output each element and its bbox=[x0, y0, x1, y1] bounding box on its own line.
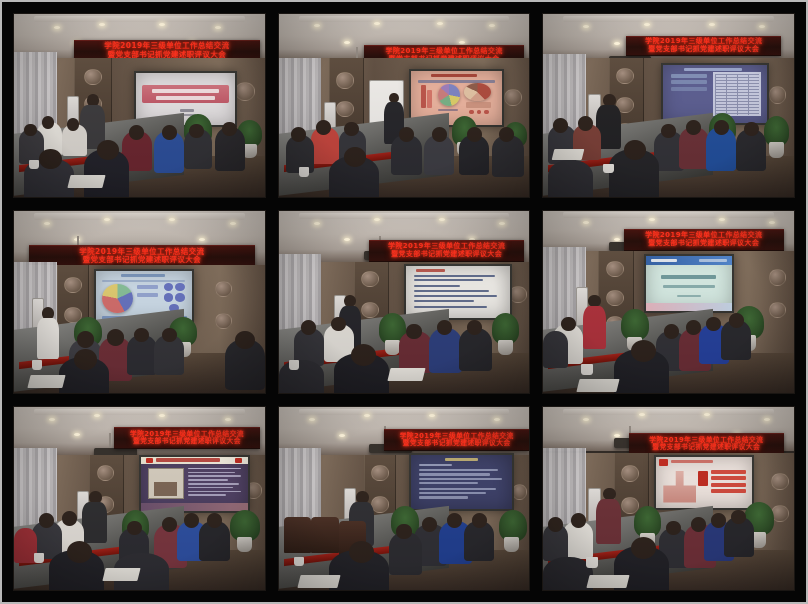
slide-label bbox=[137, 293, 158, 297]
ceiling-light bbox=[719, 218, 725, 221]
speaker bbox=[596, 499, 621, 545]
wall-oval-decor bbox=[606, 261, 624, 277]
attendee-head bbox=[39, 149, 62, 169]
ceiling-light bbox=[439, 218, 445, 221]
wall-oval-decor bbox=[64, 277, 82, 293]
photo-cell-5[interactable]: 学院2019年三级单位工作总结交流 暨党支部书记抓党建述职评议大会 bbox=[278, 210, 531, 395]
photo-cell-7[interactable]: 学院2019年三级单位工作总结交流 暨党支部书记抓党建述职评议大会 bbox=[13, 406, 266, 591]
attendee-head bbox=[472, 513, 487, 528]
slide-bullet bbox=[419, 469, 498, 471]
attendee-head bbox=[39, 513, 54, 528]
cup bbox=[586, 557, 599, 568]
slide-text-line bbox=[188, 472, 235, 474]
led-banner: 学院2019年三级单位工作总结交流 暨党支部书记抓党建述职评议大会 bbox=[629, 433, 784, 455]
ceiling-light bbox=[339, 434, 345, 437]
slide-emblem bbox=[146, 458, 153, 463]
attendee-head bbox=[686, 120, 701, 135]
ceiling-slab bbox=[299, 213, 510, 220]
photo-cell-4[interactable]: 学院2019年三级单位工作总结交流 暨党支部书记抓党建述职评议大会 bbox=[13, 210, 266, 395]
slide-subtitle bbox=[418, 80, 495, 83]
slide-text-line bbox=[188, 475, 241, 477]
slide-bullet bbox=[419, 482, 478, 484]
photo-cell-8[interactable]: 学院2019年三级单位工作总结交流 暨党支部书记抓党建述职评议大会 bbox=[278, 406, 531, 591]
attendee-head bbox=[162, 125, 177, 140]
ceiling-light bbox=[499, 222, 505, 225]
ceiling-light bbox=[614, 238, 620, 241]
ceiling-light bbox=[489, 24, 495, 27]
ceiling-light bbox=[364, 414, 370, 417]
photo-cell-6[interactable]: 学院2019年三级单位工作总结交流 暨党支部书记抓党建述职评议大会 bbox=[542, 210, 795, 395]
node bbox=[164, 293, 174, 301]
ceiling-light bbox=[344, 238, 350, 241]
notebook bbox=[577, 379, 620, 392]
slide-title bbox=[121, 274, 165, 278]
slide-bullet bbox=[414, 285, 460, 287]
attendee-head bbox=[571, 513, 586, 528]
wall-oval-decor bbox=[371, 496, 389, 513]
slide-text-line bbox=[188, 494, 226, 496]
wall-oval-decor bbox=[621, 465, 639, 482]
wall-oval-decor bbox=[771, 473, 789, 490]
potted-plant bbox=[492, 313, 520, 344]
wall-oval-decor bbox=[769, 302, 787, 318]
attendee-head bbox=[437, 320, 452, 335]
led-banner: 学院2019年三级单位工作总结交流 暨党支部书记抓党建述职评议大会 bbox=[369, 240, 524, 262]
slide-title bbox=[156, 458, 220, 462]
projection-screen bbox=[644, 254, 734, 312]
attendee-head bbox=[207, 513, 222, 528]
slide-text-line bbox=[188, 479, 228, 481]
cup bbox=[34, 553, 44, 562]
wall-oval-decor bbox=[616, 68, 634, 84]
contents-item bbox=[711, 470, 746, 474]
attendee-foreground bbox=[279, 360, 324, 394]
slide-title bbox=[431, 74, 477, 77]
attendee-head bbox=[406, 324, 421, 339]
photo-cell-2[interactable]: 学院2019年三级单位工作总结交流 暨党支部书记抓党建述职评议大会 bbox=[278, 13, 531, 198]
slide-label bbox=[137, 285, 158, 289]
slide-title bbox=[445, 458, 477, 461]
node bbox=[175, 283, 185, 291]
attendee-head bbox=[291, 127, 306, 142]
ceiling-slab bbox=[34, 409, 245, 415]
ceiling-light bbox=[215, 26, 221, 29]
slide-subheading bbox=[663, 285, 715, 288]
banner-line-2: 暨党支部书记抓党建述职评议大会 bbox=[83, 256, 202, 264]
node bbox=[469, 110, 474, 114]
slide-subtitle bbox=[102, 280, 185, 282]
slide-legend bbox=[466, 102, 492, 107]
ceiling-light bbox=[649, 218, 655, 221]
attendee-head bbox=[344, 122, 359, 137]
ceiling-light bbox=[230, 222, 236, 225]
potted-plant bbox=[499, 510, 527, 541]
slide-table bbox=[713, 72, 761, 116]
potted-plant bbox=[621, 309, 649, 340]
slide-text-line bbox=[188, 468, 241, 470]
projection-screen bbox=[409, 453, 514, 511]
ceiling-light bbox=[99, 23, 105, 26]
attendee-head bbox=[467, 127, 482, 142]
led-banner: 学院2019年三级单位工作总结交流 暨党支部书记抓党建述职评议大会 bbox=[624, 229, 784, 251]
ceiling-light bbox=[704, 413, 710, 416]
attendee-head bbox=[447, 513, 462, 528]
slide-heading bbox=[152, 89, 219, 93]
slide-title-band bbox=[142, 85, 229, 103]
slide-title bbox=[416, 269, 445, 272]
cup bbox=[581, 364, 594, 375]
notebook bbox=[297, 575, 340, 588]
ceiling-light bbox=[199, 238, 205, 241]
wall-oval-decor bbox=[504, 89, 522, 106]
slide-bullet bbox=[419, 496, 468, 498]
projector-arm bbox=[109, 433, 111, 449]
slide-heading bbox=[661, 275, 716, 279]
ceiling-light bbox=[583, 25, 589, 28]
ceiling-light bbox=[374, 22, 380, 25]
ceiling-light bbox=[764, 418, 770, 421]
wall-oval-decor bbox=[336, 72, 354, 88]
notebook bbox=[587, 575, 630, 588]
cup bbox=[32, 360, 42, 369]
ceiling-light bbox=[437, 22, 443, 25]
attendee-head bbox=[67, 118, 80, 131]
node bbox=[164, 283, 174, 291]
attendee-head bbox=[624, 140, 647, 160]
slide-footer bbox=[677, 295, 701, 297]
ceiling-light bbox=[583, 418, 589, 421]
slide-org bbox=[699, 259, 727, 263]
slide-title bbox=[671, 460, 713, 463]
attendee-head bbox=[24, 124, 37, 137]
ceiling-light bbox=[159, 23, 165, 26]
ceiling-light bbox=[94, 414, 100, 417]
ceiling-light bbox=[54, 26, 60, 29]
photo-cell-3[interactable]: 学院2019年三级单位工作总结交流 暨党支部书记抓党建述职评议大会 bbox=[542, 13, 795, 198]
attendee-head bbox=[74, 349, 97, 369]
slide-bullet bbox=[419, 464, 451, 466]
slide-bullet bbox=[414, 290, 489, 292]
attendee-head bbox=[396, 524, 411, 539]
cup bbox=[299, 167, 309, 176]
cup bbox=[29, 160, 39, 169]
led-banner: 学院2019年三级单位工作总结交流 暨党支部书记抓党建述职评议大会 bbox=[384, 429, 529, 451]
slide-bullet bbox=[419, 478, 502, 480]
plant-pot bbox=[504, 537, 519, 552]
ceiling-light bbox=[104, 218, 110, 221]
pie-chart-1 bbox=[438, 84, 460, 106]
attendee-head bbox=[729, 313, 744, 328]
cup bbox=[603, 164, 613, 173]
ceiling-light bbox=[769, 221, 775, 224]
wall-oval-decor bbox=[509, 286, 527, 302]
slide-accent-text bbox=[698, 471, 708, 486]
attendee-head bbox=[399, 127, 414, 142]
wall-oval-decor bbox=[771, 505, 789, 522]
attendee-head bbox=[714, 120, 729, 135]
slide-text-line bbox=[188, 491, 241, 493]
wall-oval-decor bbox=[215, 281, 233, 297]
notebook bbox=[103, 568, 141, 581]
plant-pot bbox=[498, 340, 513, 355]
attendee-head bbox=[301, 320, 316, 335]
ceiling-slab bbox=[34, 213, 245, 220]
photo-collage: 学院2019年三级单位工作总结交流 暨党支部书记抓党建述职评议大会 bbox=[0, 0, 808, 604]
attendee-head bbox=[316, 120, 331, 135]
ceiling-light bbox=[169, 218, 175, 221]
slide-bullet bbox=[419, 473, 490, 475]
projection-screen bbox=[654, 455, 754, 510]
ceiling-light bbox=[314, 24, 320, 27]
attendee-head bbox=[127, 521, 142, 536]
bar-2 bbox=[427, 90, 432, 108]
speaker bbox=[82, 502, 107, 542]
led-banner: 学院2019年三级单位工作总结交流 暨党支部书记抓党建述职评议大会 bbox=[29, 245, 255, 267]
photo-cell-9[interactable]: 学院2019年三级单位工作总结交流 暨党支部书记抓党建述职评议大会 bbox=[542, 406, 795, 591]
contents-item bbox=[711, 489, 746, 493]
attendee-head bbox=[744, 122, 759, 137]
ceiling-light bbox=[639, 413, 645, 416]
node bbox=[477, 110, 482, 114]
contents-item bbox=[711, 483, 746, 487]
slide-emblem bbox=[235, 458, 242, 463]
cup bbox=[289, 360, 299, 369]
attendee-head bbox=[561, 317, 576, 332]
projection-screen bbox=[139, 455, 249, 513]
banner-line-2: 暨党支部书记抓党建述职评议大会 bbox=[652, 444, 760, 451]
slide-bullet bbox=[419, 492, 486, 494]
ceiling-light bbox=[159, 414, 165, 417]
speaker bbox=[37, 318, 60, 358]
ceiling-light bbox=[344, 41, 350, 44]
bar-1 bbox=[421, 85, 426, 108]
attendee-head bbox=[631, 537, 656, 559]
attendee-head bbox=[107, 329, 125, 345]
ceiling-light bbox=[374, 218, 380, 221]
wall-oval-decor bbox=[215, 313, 233, 329]
ceiling-light bbox=[494, 418, 500, 421]
speaker bbox=[583, 306, 606, 350]
slide-emblem bbox=[659, 459, 668, 466]
pie-chart bbox=[102, 284, 133, 313]
slide-bullet bbox=[414, 279, 482, 281]
ceiling-slab bbox=[34, 16, 245, 22]
pie-chart-2 bbox=[464, 83, 491, 101]
attendee-head bbox=[77, 331, 95, 347]
attendee-head bbox=[553, 118, 568, 133]
slide-bullet bbox=[419, 488, 496, 490]
slide-text-line bbox=[188, 487, 233, 489]
attendee-head bbox=[467, 320, 482, 335]
attendee-head bbox=[67, 541, 92, 563]
plant-pot bbox=[385, 340, 400, 355]
ceiling-light bbox=[225, 418, 231, 421]
wall-oval-decor bbox=[235, 82, 255, 100]
ceiling-light bbox=[429, 414, 435, 417]
photo-subject bbox=[154, 482, 177, 496]
attendee-head bbox=[664, 324, 679, 339]
attendee-head bbox=[162, 328, 177, 343]
wall-oval-decor bbox=[336, 101, 354, 117]
slide-footer bbox=[180, 109, 194, 111]
ceiling-slab bbox=[563, 212, 774, 218]
attendee-head bbox=[548, 517, 563, 532]
wall-oval-decor bbox=[84, 69, 102, 85]
ceiling-light bbox=[309, 418, 315, 421]
banner-line-2: 暨党支部书记抓党建述职评议大会 bbox=[391, 251, 502, 259]
slide-heading bbox=[156, 96, 215, 100]
attendee-head bbox=[422, 517, 437, 532]
potted-plant bbox=[634, 506, 662, 537]
plant-pot bbox=[769, 142, 784, 158]
photo-cell-1[interactable]: 学院2019年三级单位工作总结交流 暨党支部书记抓党建述职评议大会 bbox=[13, 13, 266, 198]
ceiling-slab bbox=[299, 409, 510, 415]
slide-cell bbox=[671, 80, 706, 84]
slide-bullet bbox=[414, 306, 487, 308]
ceiling-light bbox=[644, 23, 650, 26]
attendee-head bbox=[432, 127, 447, 142]
potted-plant bbox=[230, 510, 260, 541]
ceiling-slab bbox=[563, 409, 774, 415]
attendee-head bbox=[235, 331, 255, 349]
ceiling-slab bbox=[299, 16, 510, 22]
ceiling-light bbox=[44, 222, 50, 225]
chair bbox=[284, 517, 312, 554]
attendee-head bbox=[499, 127, 514, 142]
attendee-foreground bbox=[548, 160, 593, 198]
wall-oval-decor bbox=[769, 269, 787, 285]
ceiling-light bbox=[49, 418, 55, 421]
notebook bbox=[552, 149, 585, 160]
wall-oval-decor bbox=[769, 86, 787, 103]
attendee-head bbox=[162, 517, 177, 532]
banner-line-2: 暨党支部书记抓党建述职评议大会 bbox=[403, 440, 511, 447]
attendee-head bbox=[349, 541, 374, 563]
led-banner: 学院2019年三级单位工作总结交流 暨党支部书记抓党建述职评议大会 bbox=[626, 36, 781, 56]
wall-oval-decor bbox=[606, 290, 624, 306]
slide-text-line bbox=[188, 483, 239, 485]
wall-oval-decor bbox=[361, 302, 379, 318]
slide-caption bbox=[438, 109, 458, 111]
notebook bbox=[387, 368, 425, 381]
slide-cell bbox=[671, 87, 706, 91]
slide-title bbox=[684, 68, 742, 71]
slide-bullet bbox=[414, 300, 474, 302]
banner-line-2: 暨党支部书记抓党建述职评议大会 bbox=[648, 46, 759, 54]
table-columns bbox=[715, 74, 759, 115]
slide-cell bbox=[671, 74, 706, 78]
cup bbox=[294, 557, 304, 566]
ceiling-light bbox=[614, 434, 620, 437]
banner-line-2: 暨党支部书记抓党建述职评议大会 bbox=[648, 240, 759, 248]
notebook bbox=[27, 375, 65, 388]
chair bbox=[311, 517, 339, 554]
ceiling-light bbox=[74, 433, 80, 436]
led-banner: 学院2019年三级单位工作总结交流 暨党支部书记抓党建述职评议大会 bbox=[114, 427, 259, 449]
attendee-head bbox=[42, 116, 55, 129]
slide-bullet bbox=[414, 275, 495, 277]
notebook bbox=[68, 175, 106, 188]
ceiling-light bbox=[583, 221, 589, 224]
banner-line-2: 暨党支部书记抓党建述职评议大会 bbox=[133, 438, 241, 445]
slide-illustration bbox=[663, 471, 696, 502]
ceiling-light bbox=[314, 222, 320, 225]
ceiling-light bbox=[459, 41, 465, 44]
slide-photo bbox=[148, 468, 184, 500]
plant-pot bbox=[237, 537, 252, 552]
attendee bbox=[543, 331, 568, 368]
slide-footer-band bbox=[646, 303, 732, 311]
ceiling-slab bbox=[563, 16, 774, 22]
ceiling-light bbox=[759, 25, 765, 28]
slide-logo bbox=[651, 259, 677, 263]
node bbox=[484, 110, 489, 114]
ceiling-light bbox=[614, 42, 620, 45]
node bbox=[175, 293, 185, 301]
attendee-head bbox=[62, 511, 77, 526]
slide-bullet bbox=[414, 295, 497, 297]
ceiling-light bbox=[709, 23, 715, 26]
contents-item bbox=[711, 476, 746, 480]
